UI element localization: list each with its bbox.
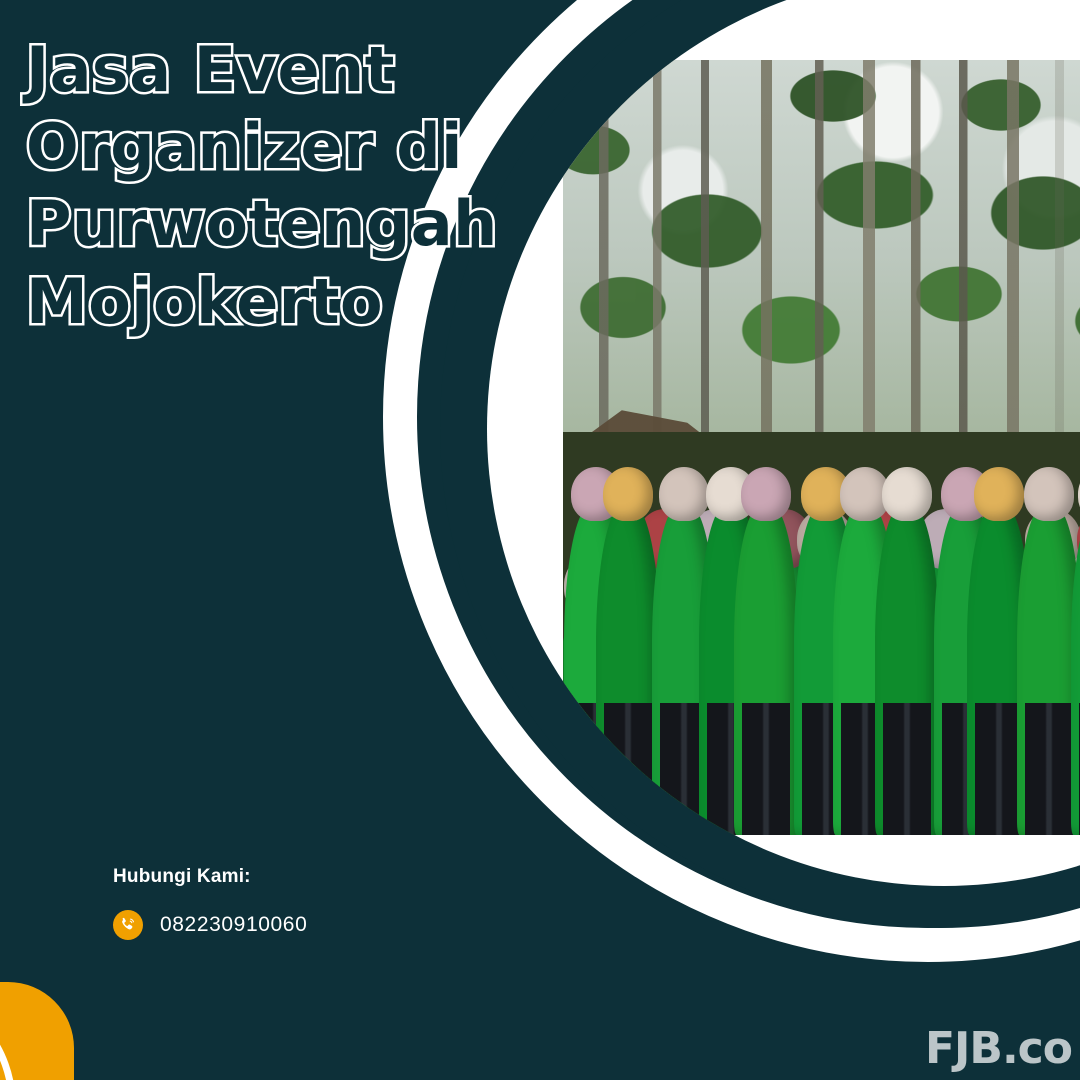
poster-canvas: Jasa Event Organizer di Purwotengah Mojo… (0, 0, 1080, 1080)
title-line-3: Purwotengah (26, 192, 496, 255)
white-thin-arc (0, 992, 16, 1080)
title-line-4: Mojokerto (26, 270, 496, 333)
watermark: FJB.co (925, 1023, 1072, 1074)
contact-block: Hubungi Kami: 082230910060 (113, 866, 307, 940)
phone-number[interactable]: 082230910060 (160, 913, 307, 937)
photo-person-hijab (1024, 467, 1074, 521)
photo-person-hijab (741, 467, 791, 521)
photo-person-hijab (974, 467, 1024, 521)
photo-person-legs (883, 703, 931, 835)
photo-person-legs (604, 703, 652, 835)
photo-person-hijab (882, 467, 932, 521)
photo-person-legs (742, 703, 790, 835)
contact-row: 082230910060 (113, 910, 307, 940)
photo-person-legs (975, 703, 1023, 835)
page-title: Jasa Event Organizer di Purwotengah Mojo… (26, 38, 496, 347)
photo-person-legs (1025, 703, 1073, 835)
title-line-1: Jasa Event (26, 38, 496, 101)
orange-corner-blob (0, 982, 74, 1080)
title-line-2: Organizer di (26, 115, 496, 178)
contact-label: Hubungi Kami: (113, 866, 307, 888)
photo-person-hijab (603, 467, 653, 521)
phone-call-icon[interactable] (113, 910, 143, 940)
photo-person-hijab (659, 467, 709, 521)
event-photo (563, 60, 1080, 835)
photo-clip-circle (487, 0, 1080, 886)
photo-crowd (563, 432, 1080, 835)
